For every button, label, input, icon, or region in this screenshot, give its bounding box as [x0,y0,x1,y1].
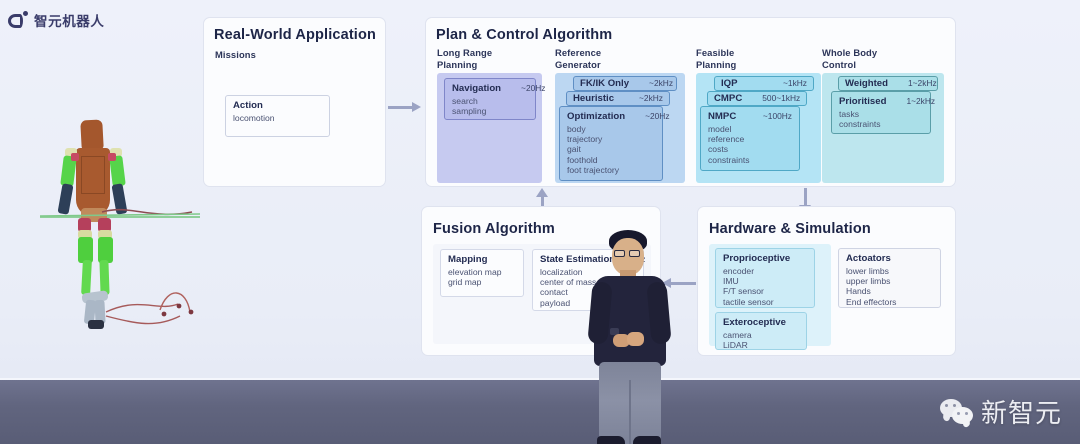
card-exteroceptive-name: Exteroceptive [723,317,786,328]
card-optimization-freq: ~20Hz [635,111,669,121]
list-item: gait [567,144,655,154]
list-item: grid map [448,277,516,287]
wechat-icon [940,399,974,425]
column-label-whole-body-control: Whole Body Control [822,47,877,70]
section-label-missions: Missions [215,49,256,61]
card-iqp-name: IQP [721,78,738,89]
arrow-realworld-to-plan [388,102,422,112]
list-item: Hands [846,286,933,296]
card-cmpc[interactable]: CMPC 500~1kHz [707,91,807,106]
card-weighted-freq: 1~2kHz [898,78,937,88]
card-optimization-name: Optimization [567,111,625,122]
list-item: constraints [708,155,792,165]
list-item: LiDAR [723,340,799,350]
card-nmpc[interactable]: NMPC ~100Hz model reference costs constr… [700,106,800,171]
card-proprioceptive-items: encoder IMU F/T sensor tactile sensor [723,266,807,307]
stage-floor [0,380,1080,444]
list-item: upper limbs [846,276,933,286]
list-item: elevation map [448,267,516,277]
panel-real-world-application: Real-World Application Missions Action l… [203,17,386,187]
card-actoators[interactable]: Actoators lower limbs upper limbs Hands … [838,248,941,308]
panel-title-fusion: Fusion Algorithm [433,221,555,237]
card-fk-ik-only[interactable]: FK/IK Only ~2kHz [573,76,677,91]
panel-title-hardware: Hardware & Simulation [709,221,871,237]
card-navigation[interactable]: Navigation ~20Hz search sampling [444,78,536,120]
panel-title-real-world: Real-World Application [214,27,376,43]
card-prioritised-name: Prioritised [839,96,886,107]
list-item: trajectory [567,134,655,144]
watermark-text: 新智元 [981,393,1062,430]
list-item: camera [723,330,799,340]
panel-hardware-simulation: Hardware & Simulation Proprioceptive enc… [697,206,956,356]
card-exteroceptive-items: camera LiDAR [723,330,799,350]
list-item: F/T sensor [723,286,807,296]
card-navigation-name: Navigation [452,83,501,94]
card-iqp[interactable]: IQP ~1kHz [714,76,814,91]
card-mapping-name: Mapping [448,254,487,265]
presenter-glasses-left [614,250,625,257]
card-prioritised-items: tasks constraints [839,109,923,129]
column-label-feasible-planning: Feasible Planning [696,47,736,70]
card-action[interactable]: Action locomotion [225,95,330,137]
card-optimization-items: body trajectory gait foothold foot traje… [567,124,655,175]
watermark: 新智元 [940,393,1062,430]
list-item: costs [708,144,792,154]
list-item: tasks [839,109,923,119]
column-label-reference-generator: Reference Generator [555,47,601,70]
card-cmpc-freq: 500~1kHz [752,93,800,103]
column-label-long-range-planning: Long Range Planning [437,47,492,70]
slide-diagram: Real-World Application Missions Action l… [0,0,1080,380]
card-navigation-freq: ~20Hz [511,83,545,93]
card-fk-ik-only-name: FK/IK Only [580,78,629,89]
list-item: tactile sensor [723,297,807,307]
list-item: reference [708,134,792,144]
presenter-arm-right [646,281,671,345]
card-weighted-name: Weighted [845,78,888,89]
list-item: model [708,124,792,134]
card-prioritised-freq: 1~2kHz [896,96,935,106]
card-nmpc-freq: ~100Hz [753,111,792,121]
card-heuristic-name: Heuristic [573,93,614,104]
presenter-leg-seam [629,380,631,444]
card-iqp-freq: ~1kHz [773,78,807,88]
card-weighted[interactable]: Weighted 1~2kHz [838,76,938,91]
list-item: End effectors [846,297,933,307]
card-action-name: Action [233,100,263,111]
list-item: locomotion [233,113,322,123]
list-item: IMU [723,276,807,286]
card-cmpc-name: CMPC [714,93,742,104]
card-navigation-items: search sampling [452,96,528,116]
card-exteroceptive[interactable]: Exteroceptive camera LiDAR [715,312,807,350]
card-fk-ik-only-freq: ~2kHz [639,78,673,88]
card-proprioceptive[interactable]: Proprioceptive encoder IMU F/T sensor ta… [715,248,815,308]
card-prioritised[interactable]: Prioritised 1~2kHz tasks constraints [831,91,931,134]
presenter-person [586,222,678,444]
list-item: encoder [723,266,807,276]
presenter-glasses-right [629,250,640,257]
card-proprioceptive-name: Proprioceptive [723,253,790,264]
list-item: body [567,124,655,134]
card-action-items: locomotion [233,113,322,123]
card-actoators-items: lower limbs upper limbs Hands End effect… [846,266,933,307]
card-nmpc-items: model reference costs constraints [708,124,792,165]
card-actoators-name: Actoators [846,253,891,264]
card-optimization[interactable]: Optimization ~20Hz body trajectory gait … [559,106,663,181]
card-nmpc-name: NMPC [708,111,736,122]
list-item: search [452,96,528,106]
card-mapping-items: elevation map grid map [448,267,516,287]
card-heuristic-freq: ~2kHz [629,93,663,103]
list-item: sampling [452,106,528,116]
card-heuristic[interactable]: Heuristic ~2kHz [566,91,670,106]
presenter-hand-right [627,332,644,346]
panel-title-plan-control: Plan & Control Algorithm [436,27,612,43]
list-item: foothold [567,155,655,165]
list-item: lower limbs [846,266,933,276]
presenter-shoe-left [597,436,625,444]
presenter-shoe-right [633,436,661,444]
list-item: constraints [839,119,923,129]
panel-plan-control-algorithm: Plan & Control Algorithm Long Range Plan… [425,17,956,187]
list-item: foot trajectory [567,165,655,175]
card-mapping[interactable]: Mapping elevation map grid map [440,249,524,297]
